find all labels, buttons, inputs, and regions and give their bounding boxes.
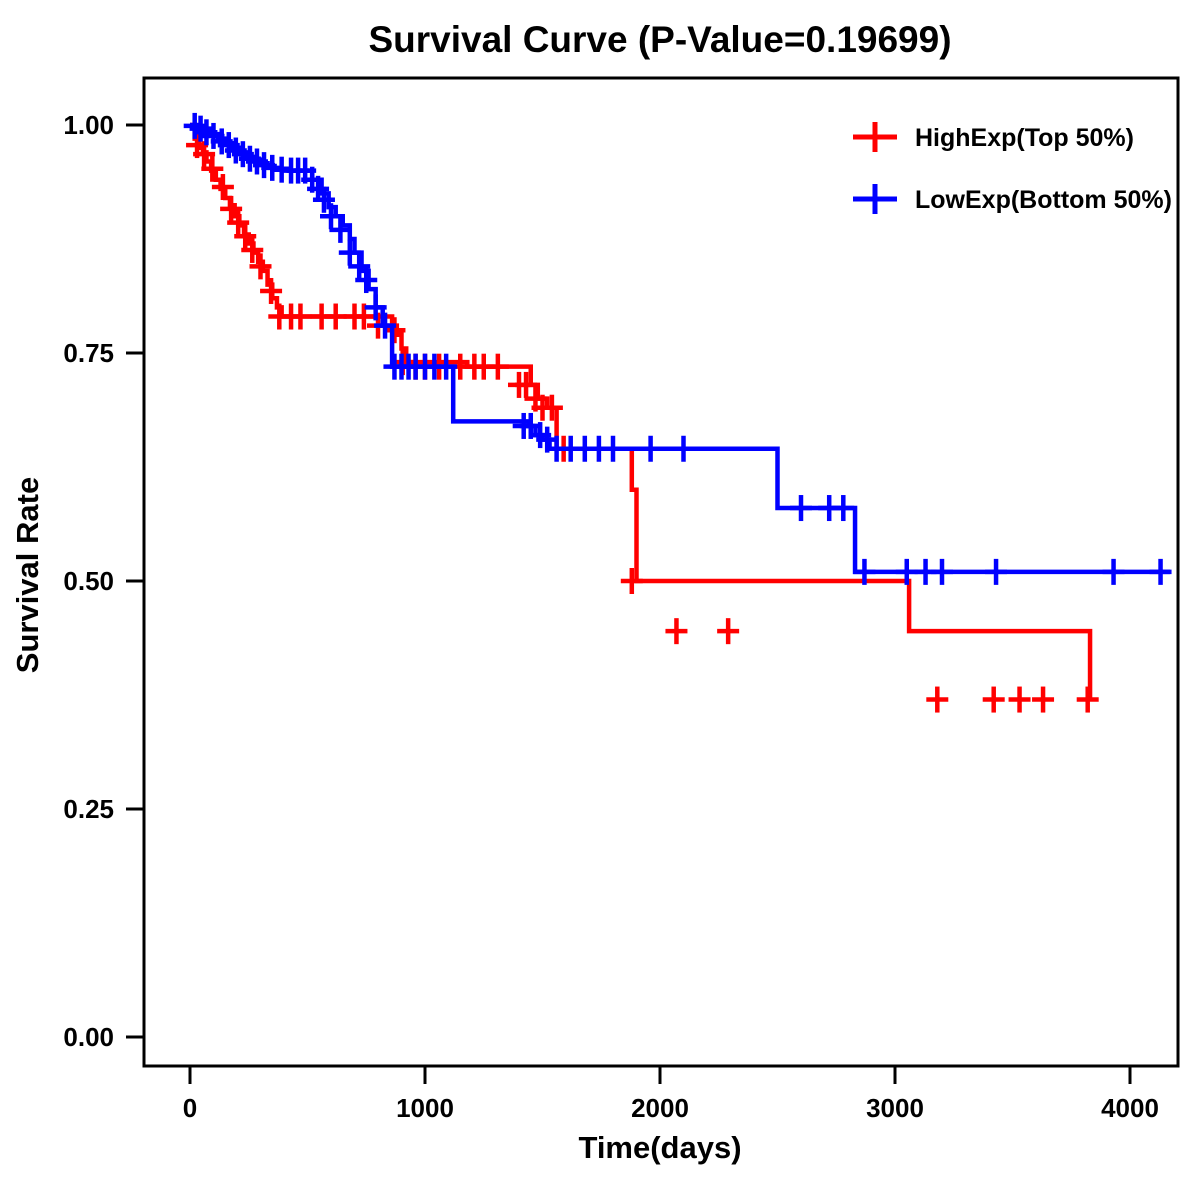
x-tick-label-1000: 1000 [396, 1093, 454, 1123]
y-axis-title: Survival Rate [10, 477, 45, 673]
x-tick-label-2000: 2000 [631, 1093, 689, 1123]
chart-title: Survival Curve (P-Value=0.19699) [368, 19, 951, 60]
survival-chart-canvas: Survival Curve (P-Value=0.19699) 0100020… [0, 0, 1200, 1200]
legend-label: HighExp(Top 50%) [915, 124, 1134, 152]
x-tick-label-4000: 4000 [1101, 1093, 1159, 1123]
y-tick-label-0.75: 0.75 [63, 338, 114, 368]
y-tick-label-0.00: 0.00 [63, 1022, 114, 1052]
x-tick-label-3000: 3000 [866, 1093, 924, 1123]
x-axis-title: Time(days) [578, 1130, 741, 1165]
x-tick-label-0: 0 [183, 1093, 197, 1123]
y-tick-label-0.25: 0.25 [63, 794, 114, 824]
y-tick-label-0.50: 0.50 [63, 566, 114, 596]
y-tick-label-1.00: 1.00 [63, 110, 114, 140]
survival-chart-figure: Survival Curve (P-Value=0.19699) 0100020… [0, 0, 1200, 1200]
chart-background [0, 0, 1200, 1200]
legend-label: LowExp(Bottom 50%) [915, 186, 1172, 214]
